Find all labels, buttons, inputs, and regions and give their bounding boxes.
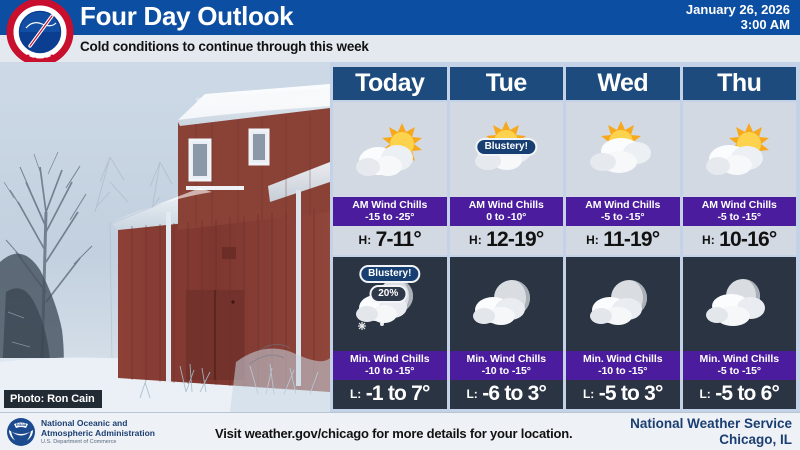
page-subtitle: Cold conditions to continue through this… <box>80 39 369 54</box>
thu-night-panel: Min. Wind Chills -5 to -15° L: -5 to 6° <box>683 257 797 410</box>
forecast-column-thu: Thu AM Wind Chills -5 to -15° <box>683 67 797 409</box>
wed-day-icon-area <box>566 102 680 197</box>
noaa-department: U.S. Department of Commerce <box>41 439 117 446</box>
today-night-icon-area: Blustery! 20% <box>333 257 447 352</box>
temp-prefix: H: <box>469 233 482 247</box>
moon-behind-cloud-icon <box>697 272 781 336</box>
footer-office: National Weather Service Chicago, IL <box>630 416 792 448</box>
badge-precip-chance: 20% <box>369 285 407 303</box>
temp-prefix: H: <box>359 233 372 247</box>
header-time: 3:00 AM <box>686 17 790 32</box>
sun-behind-cloud-icon <box>348 117 432 181</box>
thu-night-icon-area <box>683 257 797 352</box>
office-line-2: Chicago, IL <box>630 432 792 448</box>
tue-night-panel: Min. Wind Chills -10 to -15° L: -6 to 3° <box>450 257 564 410</box>
temp-value: 11-19° <box>603 228 659 251</box>
wed-day-windchill: AM Wind Chills -5 to -15° <box>566 197 680 226</box>
temp-prefix: L: <box>583 387 594 401</box>
chill-label: AM Wind Chills <box>683 199 797 211</box>
agency-line-2: Atmospheric Administration <box>41 428 155 438</box>
temp-value: 12-19° <box>486 228 543 251</box>
weather-outlook-graphic: Four Day Outlook Cold conditions to cont… <box>0 0 800 450</box>
day-name-today: Today <box>333 67 447 100</box>
nws-roundel-icon <box>4 0 76 70</box>
chill-value: -10 to -15° <box>450 365 564 377</box>
chill-value: -5 to -15° <box>566 211 680 223</box>
scene-photo: Photo: Ron Cain <box>0 62 330 412</box>
thu-high-temp: H: 10-16° <box>683 226 797 255</box>
temp-value: 10-16° <box>719 228 776 251</box>
today-high-temp: H: 7-11° <box>333 226 447 255</box>
footer: noaa National Oceanic and Atmospheric Ad… <box>0 412 800 450</box>
today-day-icon-area <box>333 102 447 197</box>
chill-label: Min. Wind Chills <box>683 353 797 365</box>
temp-value: -5 to 6° <box>715 382 779 405</box>
header-date: January 26, 2026 <box>686 2 790 17</box>
noaa-seabird-icon: noaa <box>6 417 36 447</box>
chill-label: Min. Wind Chills <box>566 353 680 365</box>
today-night-panel: Blustery! 20% Min. Wind Chills -10 to -1… <box>333 257 447 410</box>
sun-behind-cloud-icon <box>697 117 781 181</box>
chill-label: AM Wind Chills <box>566 199 680 211</box>
thu-low-temp: L: -5 to 6° <box>683 380 797 409</box>
wed-night-icon-area <box>566 257 680 352</box>
svg-text:noaa: noaa <box>16 422 27 427</box>
day-name-thu: Thu <box>683 67 797 100</box>
temp-value: -6 to 3° <box>482 382 546 405</box>
temp-prefix: H: <box>702 233 715 247</box>
temp-prefix: L: <box>466 387 477 401</box>
today-low-temp: L: -1 to 7° <box>333 380 447 409</box>
wed-low-temp: L: -5 to 3° <box>566 380 680 409</box>
chill-value: -5 to -15° <box>683 211 797 223</box>
temp-value: 7-11° <box>376 228 421 251</box>
badge-blustery: Blustery! <box>476 138 537 156</box>
thu-day-windchill: AM Wind Chills -5 to -15° <box>683 197 797 226</box>
chill-value: 0 to -10° <box>450 211 564 223</box>
tue-day-icon-area: Blustery! <box>450 102 564 197</box>
chill-value: -5 to -15° <box>683 365 797 377</box>
thu-night-windchill: Min. Wind Chills -5 to -15° <box>683 351 797 380</box>
tue-day-windchill: AM Wind Chills 0 to -10° <box>450 197 564 226</box>
wed-night-windchill: Min. Wind Chills -10 to -15° <box>566 351 680 380</box>
chill-label: AM Wind Chills <box>450 199 564 211</box>
chill-label: AM Wind Chills <box>333 199 447 211</box>
tue-low-temp: L: -6 to 3° <box>450 380 564 409</box>
temp-prefix: L: <box>350 387 361 401</box>
chill-value: -10 to -15° <box>333 365 447 377</box>
today-night-windchill: Min. Wind Chills -10 to -15° <box>333 351 447 380</box>
moon-behind-cloud-icon <box>581 272 665 336</box>
today-day-windchill: AM Wind Chills -15 to -25° <box>333 197 447 226</box>
temp-prefix: L: <box>699 387 710 401</box>
today-day-panel: AM Wind Chills -15 to -25° H: 7-11° <box>333 102 447 255</box>
sun-behind-cloud-icon <box>581 117 665 181</box>
page-title: Four Day Outlook <box>80 1 293 32</box>
wed-night-panel: Min. Wind Chills -10 to -15° L: -5 to 3° <box>566 257 680 410</box>
day-name-wed: Wed <box>566 67 680 100</box>
badge-blustery: Blustery! <box>359 265 420 283</box>
tue-high-temp: H: 12-19° <box>450 226 564 255</box>
footer-visit-text: Visit weather.gov/chicago for more detai… <box>215 426 572 441</box>
header-datetime: January 26, 2026 3:00 AM <box>686 2 790 32</box>
thu-day-panel: AM Wind Chills -5 to -15° H: 10-16° <box>683 102 797 255</box>
tue-night-icon-area <box>450 257 564 352</box>
tue-day-panel: Blustery! AM Wind Chills 0 to -10° H: 12… <box>450 102 564 255</box>
chill-label: Min. Wind Chills <box>333 353 447 365</box>
noaa-agency-name: National Oceanic and Atmospheric Adminis… <box>41 418 155 438</box>
wed-day-panel: AM Wind Chills -5 to -15° H: 11-19° <box>566 102 680 255</box>
agency-line-1: National Oceanic and <box>41 418 155 428</box>
chill-value: -15 to -25° <box>333 211 447 223</box>
forecast-column-today: Today AM Wind Chills -15 to -25° <box>333 67 447 409</box>
photo-credit: Photo: Ron Cain <box>4 390 102 408</box>
temp-value: -5 to 3° <box>599 382 663 405</box>
tue-night-windchill: Min. Wind Chills -10 to -15° <box>450 351 564 380</box>
wed-high-temp: H: 11-19° <box>566 226 680 255</box>
moon-behind-cloud-icon <box>464 272 548 336</box>
chill-value: -10 to -15° <box>566 365 680 377</box>
forecast-panels: Today AM Wind Chills -15 to -25° <box>330 62 800 412</box>
day-name-tue: Tue <box>450 67 564 100</box>
temp-value: -1 to 7° <box>366 382 430 405</box>
thu-day-icon-area <box>683 102 797 197</box>
chill-label: Min. Wind Chills <box>450 353 564 365</box>
forecast-column-wed: Wed AM Wind Chills -5 to -15° <box>566 67 680 409</box>
office-line-1: National Weather Service <box>630 416 792 432</box>
temp-prefix: H: <box>586 233 599 247</box>
forecast-column-tue: Tue Blustery! AM Wind Chills 0 to -10° <box>450 67 564 409</box>
